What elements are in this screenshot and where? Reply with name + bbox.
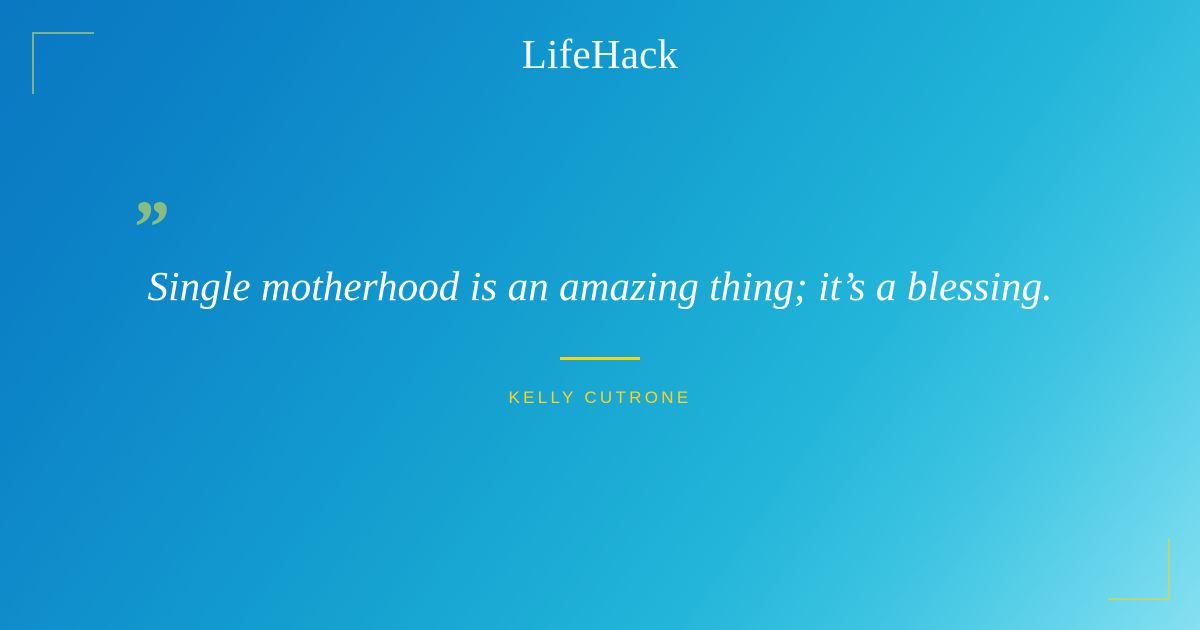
quote-mark-icon: ” (130, 190, 166, 266)
author-name: KELLY CUTRONE (0, 388, 1200, 408)
quote-text: Single motherhood is an amazing thing; i… (60, 262, 1140, 310)
brand-header: LifeHack (0, 34, 1200, 75)
brand-logo: LifeHack (522, 34, 678, 75)
corner-bracket-bottom-right-icon (1108, 538, 1170, 600)
quote-card: LifeHack ” Single motherhood is an amazi… (0, 0, 1200, 630)
author-divider (560, 357, 640, 360)
